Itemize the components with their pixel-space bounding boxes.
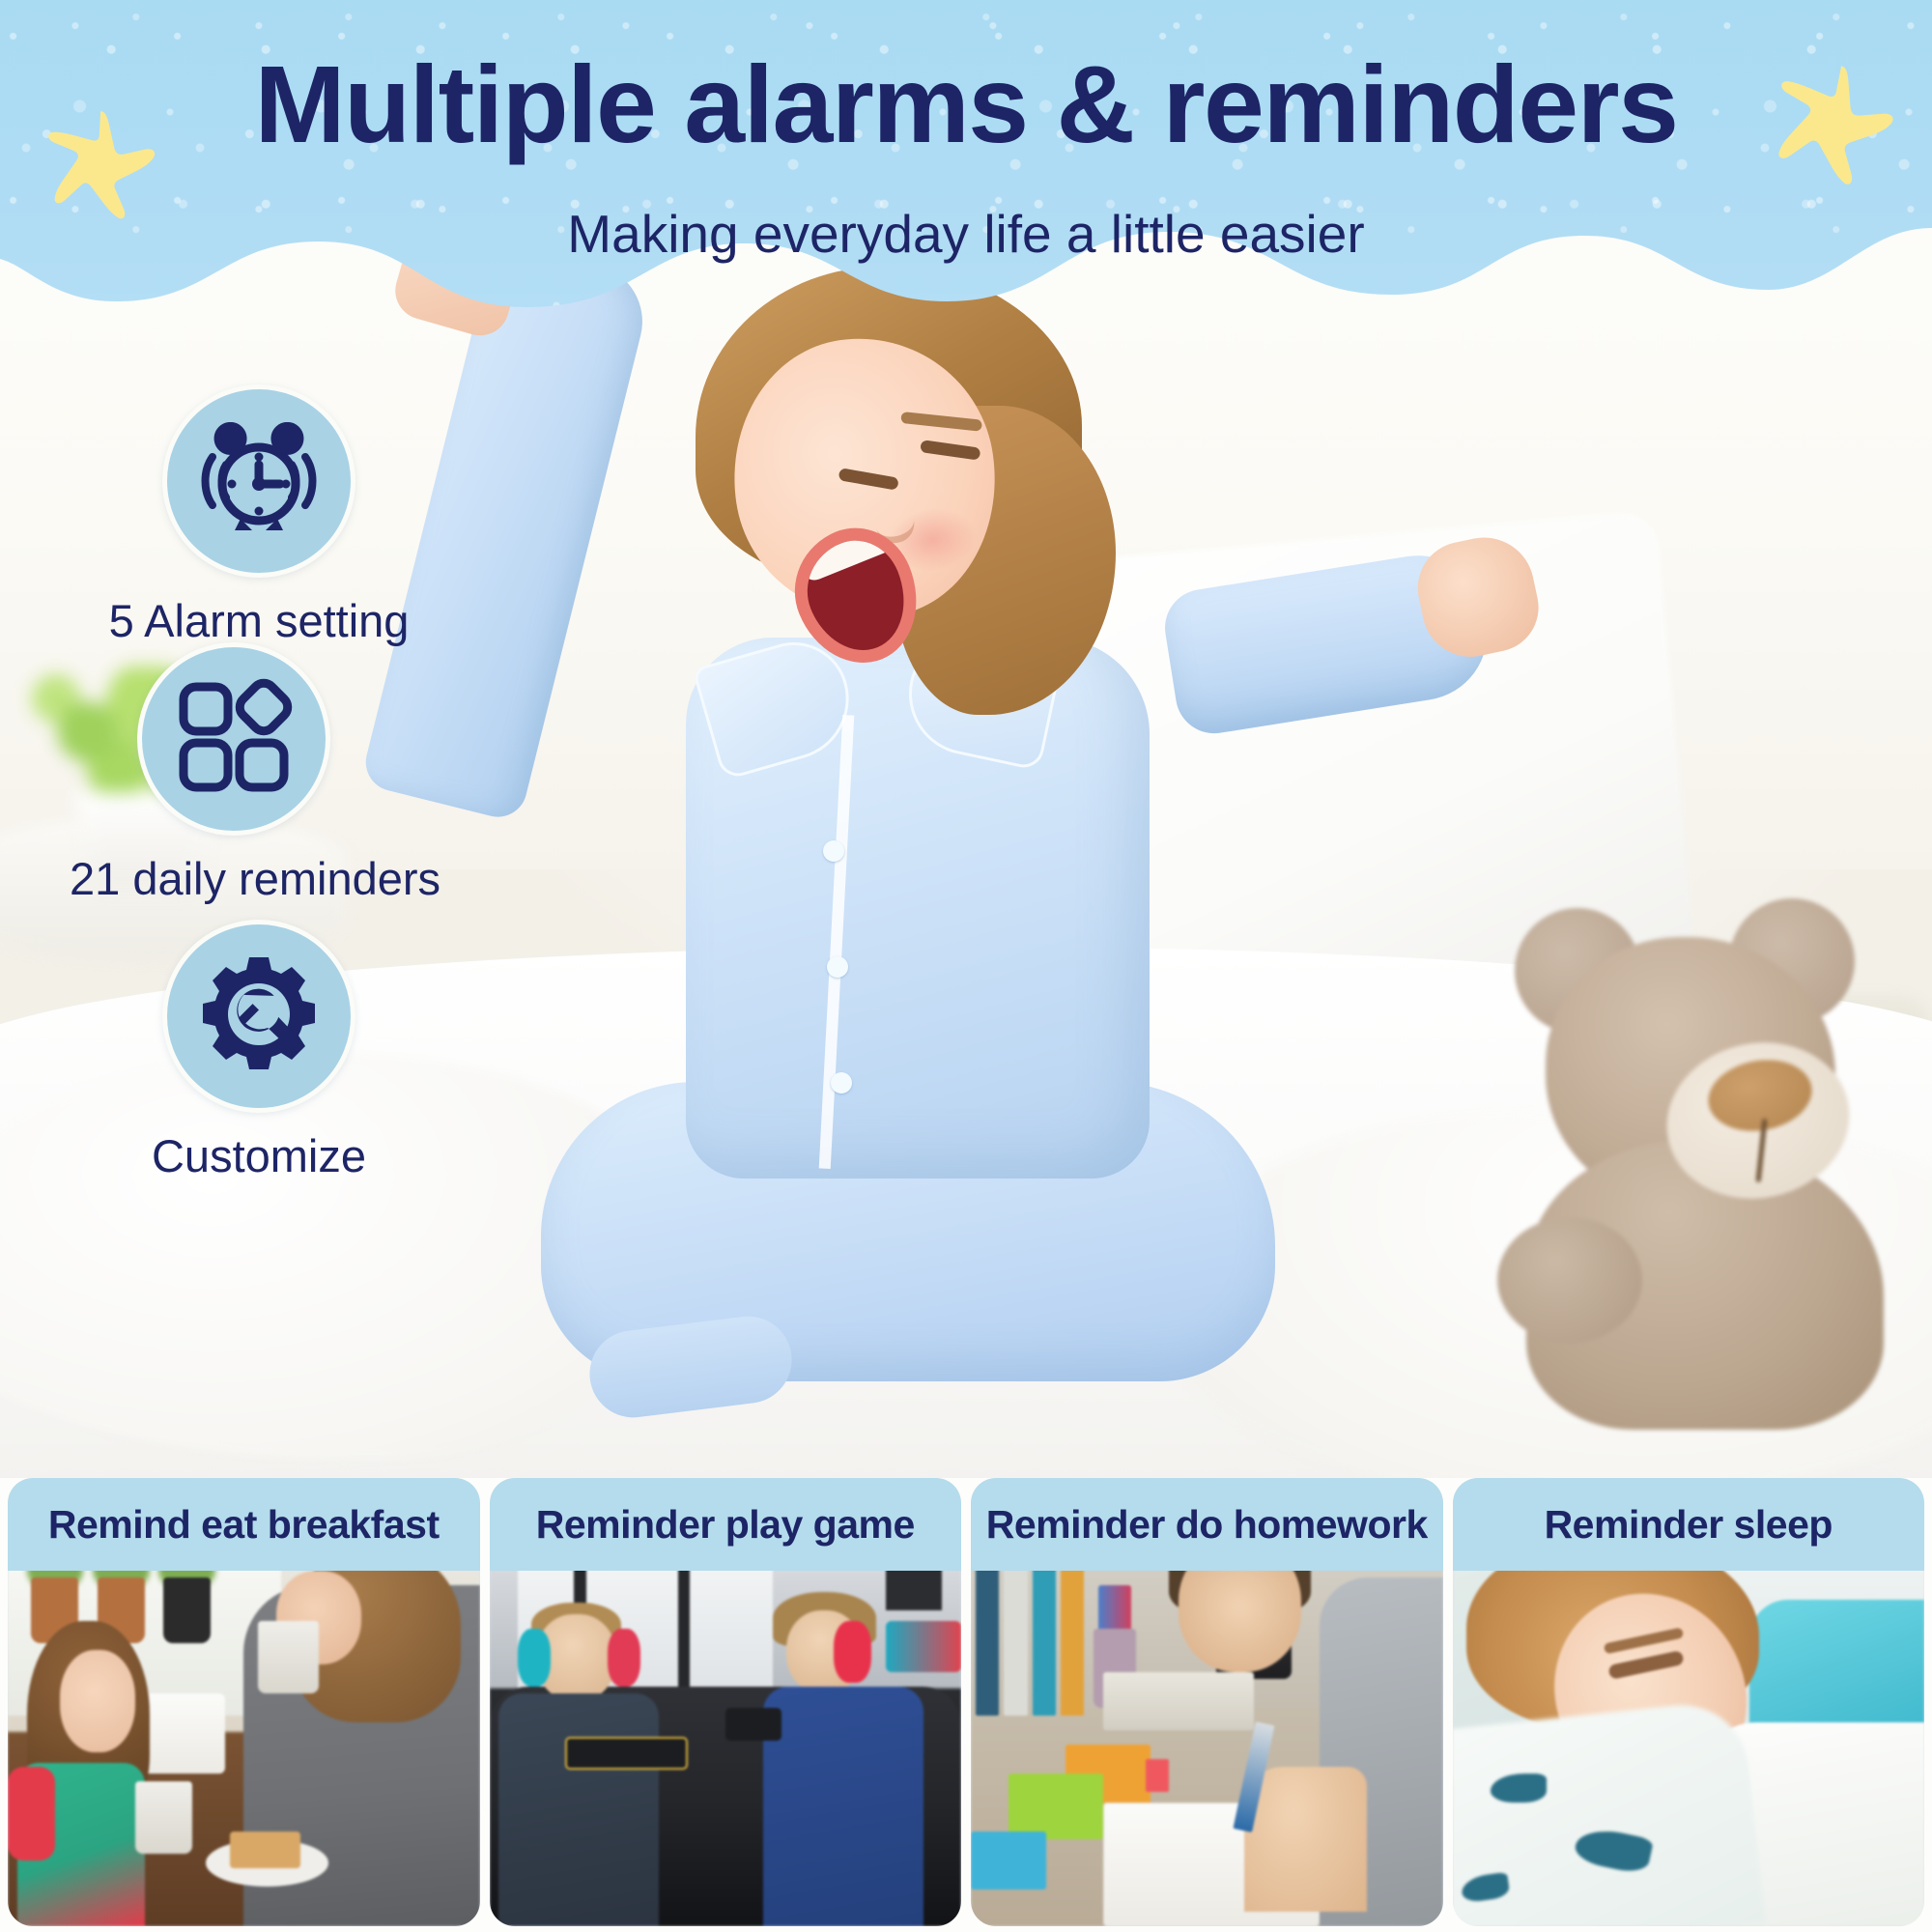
alarm-clock-icon (197, 422, 321, 541)
thumbnail-caption: Remind eat breakfast (48, 1502, 440, 1548)
thumbnail-photo-game (490, 1563, 962, 1926)
page-title: Multiple alarms & reminders (0, 50, 1932, 159)
child-eye (838, 468, 899, 491)
feature-daily-reminders[interactable]: 21 daily reminders (70, 642, 398, 902)
feature-label: 5 Alarm setting (95, 597, 423, 644)
thumbnail-photo-homework (971, 1563, 1443, 1926)
feature-label: 21 daily reminders (70, 855, 398, 902)
thumbnail-caption: Reminder do homework (986, 1502, 1428, 1548)
feature-icon-circle (137, 642, 330, 836)
child-teeth (798, 525, 896, 584)
thumbnail-caption: Reminder play game (536, 1502, 915, 1548)
thumbnail-caption-bar: Reminder do homework (971, 1478, 1443, 1571)
thumbnail-card[interactable]: Remind eat breakfast (8, 1478, 480, 1926)
feature-icon-circle (162, 920, 355, 1113)
thumbnail-photo-breakfast (8, 1563, 480, 1926)
pajama-button (827, 956, 848, 978)
feature-alarm-setting[interactable]: 5 Alarm setting (95, 384, 423, 644)
feature-customize[interactable]: Customize (95, 920, 423, 1179)
pajama-button (831, 1072, 852, 1094)
thumbnail-caption-bar: Reminder play game (490, 1478, 962, 1571)
gear-wrench-icon (198, 953, 320, 1080)
teddy-bear (1488, 898, 1932, 1420)
thumbnail-card[interactable]: Reminder sleep (1453, 1478, 1925, 1926)
use-case-thumbnail-strip: Remind eat breakfast (0, 1478, 1932, 1932)
thumbnail-caption: Reminder sleep (1545, 1502, 1833, 1548)
product-poster: Multiple alarms & reminders Making every… (0, 0, 1932, 1932)
thumbnail-photo-sleep (1453, 1563, 1925, 1926)
child-eyebrow (900, 412, 982, 432)
pajama-button (823, 840, 844, 862)
feature-label: Customize (95, 1132, 423, 1179)
four-shapes-icon (174, 677, 294, 802)
thumbnail-card[interactable]: Reminder play game (490, 1478, 962, 1926)
child-figure (367, 251, 1526, 1410)
teddy-paw (1497, 1217, 1642, 1343)
child-head (724, 280, 1043, 638)
page-subtitle: Making everyday life a little easier (0, 208, 1932, 261)
thumbnail-caption-bar: Reminder sleep (1453, 1478, 1925, 1571)
thumbnail-card[interactable]: Reminder do homework (971, 1478, 1443, 1926)
feature-icon-circle (162, 384, 355, 578)
child-eye (920, 440, 980, 461)
thumbnail-caption-bar: Remind eat breakfast (8, 1478, 480, 1571)
